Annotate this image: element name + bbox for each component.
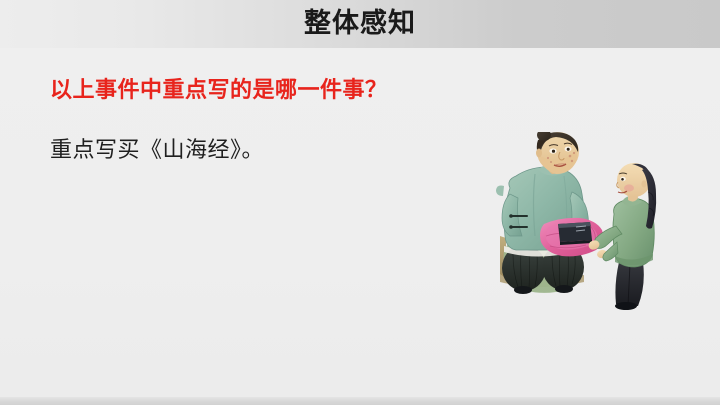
book-in-pink-cloth [540, 218, 603, 257]
page-title: 整体感知 [0, 6, 720, 42]
figure-child [587, 163, 656, 310]
illustration-woman-handing-book-to-child [480, 132, 676, 316]
question-text: 以上事件中重点写的是哪一件事？ [50, 76, 388, 106]
bottom-gradient-band [0, 397, 720, 405]
answer-text: 重点写买《山海经》。 [50, 136, 264, 166]
slide-canvas: 整体感知 以上事件中重点写的是哪一件事？ 重点写买《山海经》。 [0, 0, 720, 405]
figure-elderly-woman [496, 132, 588, 294]
